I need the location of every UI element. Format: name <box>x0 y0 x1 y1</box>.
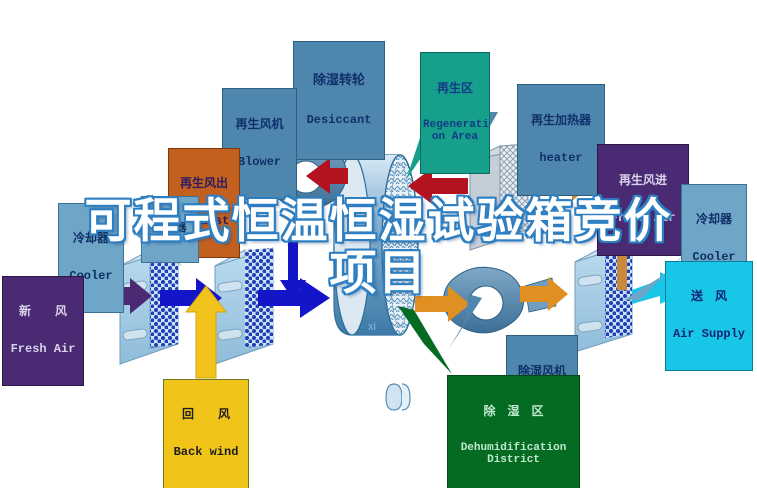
callout-regeneration-area-en: Regenerati on Area <box>423 120 487 143</box>
callout-dehum-district-en: Dehumidification District <box>450 443 577 466</box>
callout-fresh-air: 新 风 Fresh Air <box>2 276 84 386</box>
callout-air-supply: 送 风 Air Supply <box>665 261 753 371</box>
callout-fresh-air-cn: 新 风 <box>5 305 81 318</box>
callout-regen-heater: 再生加热器 heater <box>517 84 605 196</box>
callout-cooler-middle: 冷却器 <box>141 196 199 263</box>
callout-regen-heater-cn: 再生加热器 <box>520 114 602 127</box>
callout-regeneration-area: 再生区 Regenerati on Area <box>420 52 490 174</box>
callout-regen-fresh-air-cn: 再生风进 <box>600 174 686 187</box>
callout-regen-heater-en: heater <box>520 152 602 165</box>
callout-dehumidification-district: 除 湿 区 Dehumidification District <box>447 375 580 488</box>
callout-desiccant-wheel-en: Desiccant <box>296 114 382 127</box>
callout-back-wind-cn: 回 风 <box>166 408 246 421</box>
callout-back-wind: 回 风 Back wind <box>163 379 249 488</box>
callout-back-wind-en: Back wind <box>166 446 246 459</box>
callout-regen-blower-cn: 再生风机 <box>225 118 294 131</box>
callout-dehum-district-cn: 除 湿 区 <box>450 405 577 418</box>
diagram-canvas: xi <box>0 0 757 488</box>
callout-exhaust-cn: 再生风出 <box>171 177 237 190</box>
callout-desiccant-wheel: 除湿转轮 Desiccant <box>293 41 385 160</box>
callout-air-supply-en: Air Supply <box>668 328 750 341</box>
callout-desiccant-wheel-cn: 除湿转轮 <box>296 73 382 87</box>
desiccant-rotor-wheel: xi <box>334 155 418 410</box>
callout-regen-fresh-air: 再生风进 Fresh Air <box>597 144 689 256</box>
callout-air-supply-cn: 送 风 <box>668 290 750 303</box>
callout-regen-fresh-air-en: Fresh Air <box>600 212 686 225</box>
callout-regeneration-area-cn: 再生区 <box>423 82 487 95</box>
callout-cooler-right-cn: 冷却器 <box>684 213 744 226</box>
callout-fresh-air-en: Fresh Air <box>5 343 81 356</box>
callout-cooler-left-cn: 冷却器 <box>61 232 121 245</box>
svg-text:xi: xi <box>368 321 376 333</box>
callout-cooler-middle-cn: 冷却器 <box>144 223 196 235</box>
